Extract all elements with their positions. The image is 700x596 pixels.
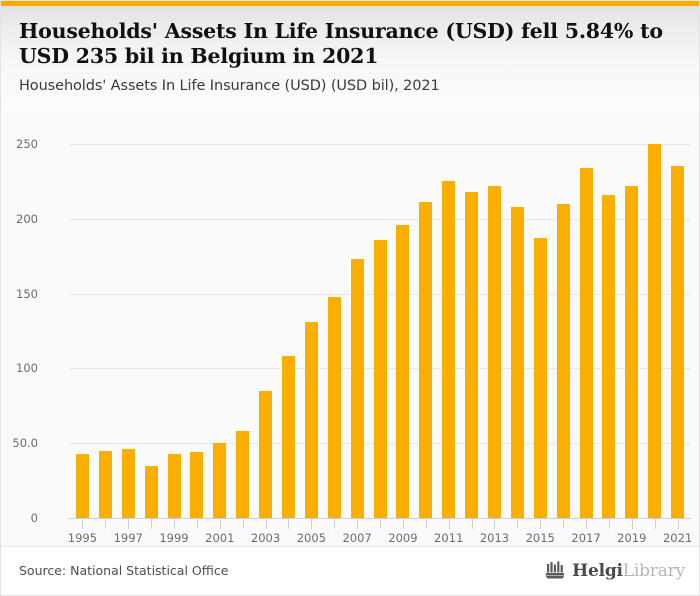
y-axis-tick-label: 150: [0, 287, 38, 301]
bar-slot: [185, 124, 208, 518]
x-tick-2014: [506, 518, 529, 530]
x-axis-tick-label: 2007: [342, 531, 371, 545]
bar-2014[interactable]: [511, 207, 524, 518]
library-building-icon: [545, 560, 567, 583]
x-tick-2011: 2011: [437, 518, 460, 530]
x-tick-2015: 2015: [529, 518, 552, 530]
x-tick-2009: 2009: [391, 518, 414, 530]
bar-slot: [369, 124, 392, 518]
bar-2010[interactable]: [419, 202, 432, 518]
bar-slot: [391, 124, 414, 518]
bar-slot: [163, 124, 186, 518]
bar-2002[interactable]: [236, 431, 249, 518]
logo-text-secondary: Library: [623, 561, 685, 581]
page-title: Households' Assets In Life Insurance (US…: [19, 19, 683, 69]
x-tick-2002: [231, 518, 254, 530]
plot-region: 050.0100150200250 1995199719992001200320…: [47, 124, 691, 528]
bar-slot: [140, 124, 163, 518]
x-tick-2008: [369, 518, 392, 530]
bar-slot: [643, 124, 666, 518]
bar-2004[interactable]: [282, 356, 295, 518]
x-tick-1995: 1995: [71, 518, 94, 530]
bar-2000[interactable]: [190, 452, 203, 518]
bar-slot: [277, 124, 300, 518]
x-tick-2003: 2003: [254, 518, 277, 530]
bar-1997[interactable]: [122, 449, 135, 518]
logo-text-primary: Helgi: [572, 561, 623, 581]
x-axis-tick-label: 2019: [617, 531, 646, 545]
bar-2017[interactable]: [580, 168, 593, 518]
y-axis-tick-label: 0: [0, 511, 38, 525]
x-tick-1996: [94, 518, 117, 530]
bar-2001[interactable]: [213, 443, 226, 518]
x-tick-2004: [277, 518, 300, 530]
chart-area: 050.0100150200250 1995199719992001200320…: [1, 111, 700, 546]
x-tick-2006: [323, 518, 346, 530]
bar-2016[interactable]: [557, 204, 570, 518]
bar-2008[interactable]: [374, 240, 387, 518]
bar-slot: [208, 124, 231, 518]
bar-2013[interactable]: [488, 186, 501, 518]
y-axis-tick-label: 250: [0, 137, 38, 151]
x-tick-2018: [597, 518, 620, 530]
x-tick-1997: 1997: [117, 518, 140, 530]
x-axis-tick-label: 2001: [205, 531, 234, 545]
x-tick-2016: [552, 518, 575, 530]
chart-header: Households' Assets In Life Insurance (US…: [1, 6, 700, 111]
x-axis-tick-label: 2011: [434, 531, 463, 545]
x-tick-2007: 2007: [346, 518, 369, 530]
x-tick-2019: 2019: [620, 518, 643, 530]
chart-footer: Source: National Statistical Office Helg…: [1, 546, 700, 596]
bar-slot: [529, 124, 552, 518]
helgi-library-logo[interactable]: HelgiLibrary: [545, 560, 685, 583]
x-axis-tick-label: 2015: [526, 531, 555, 545]
bar-2007[interactable]: [351, 259, 364, 518]
bar-1996[interactable]: [99, 451, 112, 518]
bar-1999[interactable]: [168, 454, 181, 518]
bar-2009[interactable]: [396, 225, 409, 518]
bar-2006[interactable]: [328, 297, 341, 518]
x-tick-2000: [185, 518, 208, 530]
bar-slot: [323, 124, 346, 518]
bar-slot: [94, 124, 117, 518]
bars-group: [71, 124, 689, 518]
bar-slot: [71, 124, 94, 518]
bar-slot: [666, 124, 689, 518]
bar-slot: [414, 124, 437, 518]
bar-2019[interactable]: [625, 186, 638, 518]
bar-slot: [483, 124, 506, 518]
bar-2018[interactable]: [602, 195, 615, 518]
x-axis-tick-label: 1999: [159, 531, 188, 545]
x-axis-tick-label: 2021: [663, 531, 692, 545]
bar-slot: [620, 124, 643, 518]
bar-2015[interactable]: [534, 238, 547, 518]
bar-slot: [300, 124, 323, 518]
bar-slot: [506, 124, 529, 518]
bar-2005[interactable]: [305, 322, 318, 518]
bar-2003[interactable]: [259, 391, 272, 518]
x-axis-tick-label: 2017: [571, 531, 600, 545]
bar-slot: [346, 124, 369, 518]
x-tick-2010: [414, 518, 437, 530]
bar-slot: [437, 124, 460, 518]
bar-slot: [254, 124, 277, 518]
x-axis-tick-label: 2013: [480, 531, 509, 545]
x-tick-2005: 2005: [300, 518, 323, 530]
source-note: Source: National Statistical Office: [19, 563, 228, 578]
x-axis-tick-label: 2003: [251, 531, 280, 545]
bar-slot: [575, 124, 598, 518]
bar-1998[interactable]: [145, 466, 158, 518]
bar-slot: [117, 124, 140, 518]
bar-2012[interactable]: [465, 192, 478, 518]
x-tick-2017: 2017: [575, 518, 598, 530]
x-tick-1998: [140, 518, 163, 530]
x-axis-tick-label: 2005: [297, 531, 326, 545]
bar-2021[interactable]: [671, 166, 684, 518]
logo-text: HelgiLibrary: [572, 563, 685, 580]
bar-slot: [460, 124, 483, 518]
page-subtitle: Households' Assets In Life Insurance (US…: [19, 78, 683, 94]
bar-2011[interactable]: [442, 181, 455, 518]
x-axis-ticks: 1995199719992001200320052007200920112013…: [71, 518, 689, 530]
bar-2020[interactable]: [648, 144, 661, 518]
x-tick-2012: [460, 518, 483, 530]
bar-slot: [552, 124, 575, 518]
x-axis-tick-label: 2009: [388, 531, 417, 545]
y-axis-tick-label: 200: [0, 212, 38, 226]
x-axis-tick-label: 1997: [114, 531, 143, 545]
x-tick-2020: [643, 518, 666, 530]
y-axis-tick-label: 100: [0, 361, 38, 375]
x-tick-2013: 2013: [483, 518, 506, 530]
x-tick-2001: 2001: [208, 518, 231, 530]
bar-slot: [597, 124, 620, 518]
y-axis-tick-label: 50.0: [0, 436, 38, 450]
bar-1995[interactable]: [76, 454, 89, 518]
x-axis-tick-label: 1995: [68, 531, 97, 545]
x-tick-2021: 2021: [666, 518, 689, 530]
chart-page: Households' Assets In Life Insurance (US…: [0, 0, 700, 596]
bar-slot: [231, 124, 254, 518]
x-tick-1999: 1999: [163, 518, 186, 530]
